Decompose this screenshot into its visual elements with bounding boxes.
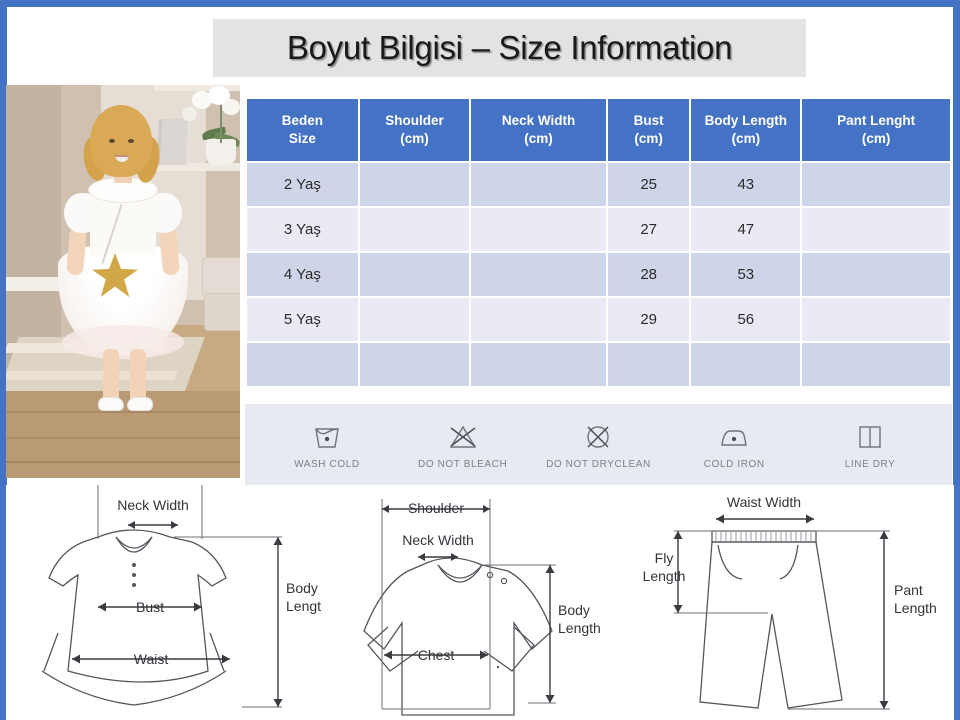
photo-hair bbox=[90, 105, 152, 177]
cell-bust: 25 bbox=[608, 163, 689, 206]
line-dry-icon bbox=[853, 420, 887, 454]
cell-neck-width bbox=[471, 343, 606, 386]
care-item-cold-iron: COLD IRON bbox=[669, 420, 799, 470]
page-title-bar: Boyut Bilgisi – Size Information bbox=[213, 19, 806, 77]
cell-pant-length bbox=[802, 298, 950, 341]
photo-leg-right bbox=[130, 349, 146, 403]
care-item-wash-cold: WASH COLD bbox=[262, 420, 392, 470]
column-header-neck-width: Neck Width (cm) bbox=[471, 99, 606, 161]
table-row: 2 Yaş 25 43 bbox=[247, 163, 950, 206]
column-header-pant-length: Pant Lenght (cm) bbox=[802, 99, 950, 161]
cell-body-length: 56 bbox=[691, 298, 800, 341]
size-information-slide: Boyut Bilgisi – Size Information bbox=[0, 0, 960, 720]
shirt-label-body-length-1: Body bbox=[558, 602, 590, 618]
column-header-shoulder: Shoulder (cm) bbox=[360, 99, 469, 161]
cell-size: 2 Yaş bbox=[247, 163, 358, 206]
cell-neck-width bbox=[471, 298, 606, 341]
pants-label-fly-length-2: Length bbox=[643, 568, 686, 584]
cell-neck-width bbox=[471, 208, 606, 251]
cell-pant-length bbox=[802, 163, 950, 206]
cell-size: 4 Yaş bbox=[247, 253, 358, 296]
photo-dress-hem bbox=[62, 325, 184, 359]
care-label: COLD IRON bbox=[704, 459, 765, 470]
do-not-dryclean-icon bbox=[581, 420, 615, 454]
table-row: 4 Yaş 28 53 bbox=[247, 253, 950, 296]
cell-bust: 27 bbox=[608, 208, 689, 251]
care-item-do-not-dryclean: DO NOT DRYCLEAN bbox=[533, 420, 663, 470]
shirt-label-shoulder: Shoulder bbox=[408, 500, 464, 516]
table-header-row: Beden Size Shoulder (cm) Neck Width (cm)… bbox=[247, 99, 950, 161]
pants-label-pant-length-1: Pant bbox=[894, 582, 923, 598]
cell-body-length: 43 bbox=[691, 163, 800, 206]
cell-shoulder bbox=[360, 208, 469, 251]
product-photo bbox=[6, 85, 240, 478]
measurement-diagrams: Neck Width Bust Waist Body Length bbox=[6, 485, 954, 720]
photo-basket-upper bbox=[202, 257, 240, 297]
care-label: DO NOT BLEACH bbox=[418, 459, 507, 470]
cell-body-length: 53 bbox=[691, 253, 800, 296]
column-header-bust: Bust (cm) bbox=[608, 99, 689, 161]
cell-size: 5 Yaş bbox=[247, 298, 358, 341]
table-row bbox=[247, 343, 950, 386]
shirt-label-neck-width: Neck Width bbox=[402, 532, 474, 548]
page-title: Boyut Bilgisi – Size Information bbox=[287, 29, 732, 67]
care-item-line-dry: LINE DRY bbox=[805, 420, 935, 470]
cell-neck-width bbox=[471, 253, 606, 296]
cell-shoulder bbox=[360, 298, 469, 341]
cell-body-length: 47 bbox=[691, 208, 800, 251]
photo-floor-plank-2 bbox=[6, 437, 240, 439]
pants-measurement-diagram: Waist Width Fly Length Pant Length bbox=[638, 485, 954, 720]
column-header-body-length: Body Length (cm) bbox=[691, 99, 800, 161]
photo-floor-plank-1 bbox=[6, 411, 240, 413]
pants-label-fly-length-1: Fly bbox=[655, 550, 674, 566]
photo-rug-stripe-2 bbox=[6, 371, 178, 380]
dress-measurement-diagram: Neck Width Bust Waist Body Length bbox=[6, 485, 322, 720]
dress-label-body-length-2: Length bbox=[286, 598, 322, 614]
care-instructions-band: WASH COLD DO NOT BLEACH DO NOT DRYCL bbox=[245, 404, 952, 485]
cell-pant-length bbox=[802, 343, 950, 386]
photo-eye-right bbox=[128, 139, 134, 143]
care-item-do-not-bleach: DO NOT BLEACH bbox=[398, 420, 528, 470]
dress-label-waist: Waist bbox=[134, 651, 169, 667]
photo-shoe-left bbox=[98, 397, 124, 411]
photo-eye-left bbox=[109, 139, 115, 143]
cell-body-length bbox=[691, 343, 800, 386]
cell-bust bbox=[608, 343, 689, 386]
cell-shoulder bbox=[360, 343, 469, 386]
do-not-bleach-icon bbox=[446, 420, 480, 454]
photo-orchid-bloom-4 bbox=[182, 107, 197, 121]
photo-basket-lower bbox=[204, 293, 240, 331]
photo-floor-plank-3 bbox=[6, 461, 240, 463]
cell-size: 3 Yaş bbox=[247, 208, 358, 251]
dress-label-neck-width: Neck Width bbox=[117, 497, 189, 513]
shirt-label-body-length-2: Length bbox=[558, 620, 601, 636]
cell-neck-width bbox=[471, 163, 606, 206]
photo-orchid-bloom-3 bbox=[222, 99, 240, 115]
cold-iron-icon bbox=[717, 420, 751, 454]
shirt-measurement-diagram: Shoulder Neck Width Chest Body Length bbox=[322, 485, 638, 720]
dress-label-bust: Bust bbox=[136, 599, 164, 615]
table-row: 3 Yaş 27 47 bbox=[247, 208, 950, 251]
cell-shoulder bbox=[360, 163, 469, 206]
photo-shoe-right bbox=[127, 397, 153, 411]
cell-size bbox=[247, 343, 358, 386]
cell-pant-length bbox=[802, 208, 950, 251]
photo-leg-left bbox=[103, 349, 119, 403]
care-label: DO NOT DRYCLEAN bbox=[546, 459, 651, 470]
pants-label-waist-width: Waist Width bbox=[727, 494, 801, 510]
column-header-size: Beden Size bbox=[247, 99, 358, 161]
dress-label-body-length-1: Body bbox=[286, 580, 318, 596]
cell-shoulder bbox=[360, 253, 469, 296]
care-label: LINE DRY bbox=[845, 459, 896, 470]
size-table: Beden Size Shoulder (cm) Neck Width (cm)… bbox=[245, 97, 952, 388]
photo-books bbox=[157, 119, 191, 165]
wash-cold-icon bbox=[310, 420, 344, 454]
table-row: 5 Yaş 29 56 bbox=[247, 298, 950, 341]
cell-pant-length bbox=[802, 253, 950, 296]
pants-label-pant-length-2: Length bbox=[894, 600, 937, 616]
care-label: WASH COLD bbox=[294, 459, 360, 470]
cell-bust: 29 bbox=[608, 298, 689, 341]
shirt-label-chest: Chest bbox=[418, 647, 455, 663]
cell-bust: 28 bbox=[608, 253, 689, 296]
